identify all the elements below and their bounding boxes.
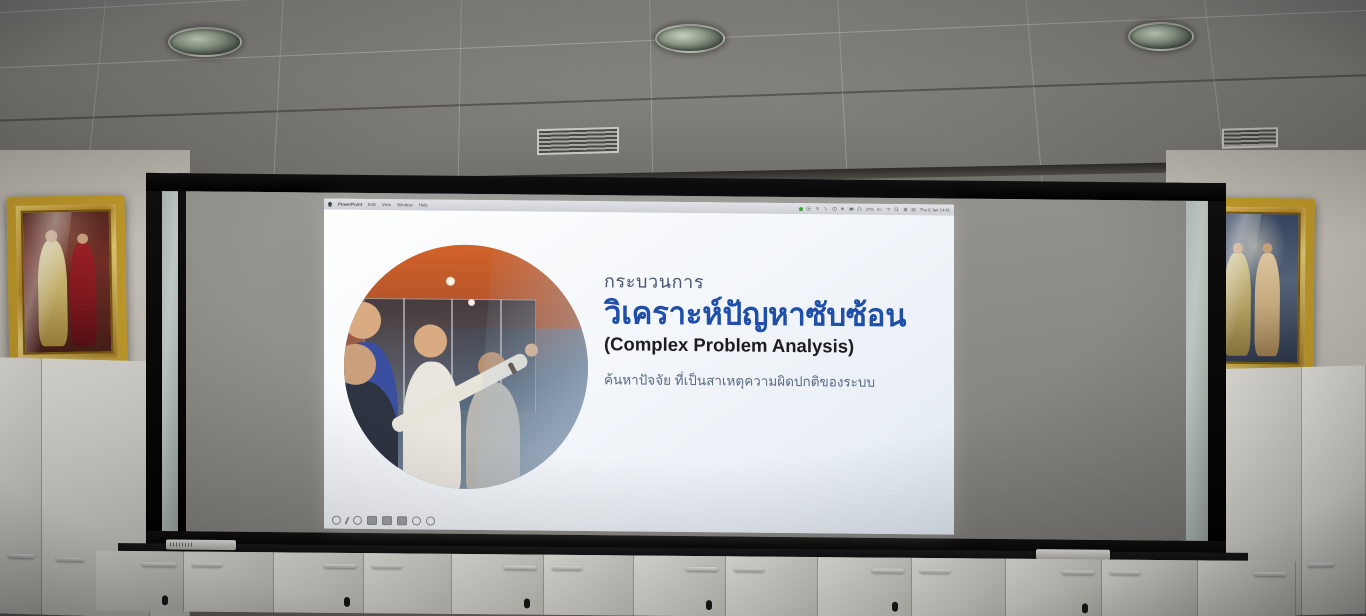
projection-screen-assembly: PowerPoint Edit View Window Help bbox=[146, 173, 1226, 563]
cabinet-door[interactable] bbox=[726, 556, 818, 616]
slide-navigator-icon[interactable] bbox=[367, 516, 377, 525]
cabinet-door[interactable] bbox=[274, 552, 364, 613]
zoom-icon[interactable] bbox=[382, 516, 392, 525]
powerpoint-slide: กระบวนการ วิเคราะห์ปัญหาซับซ้อน (Complex… bbox=[324, 210, 954, 535]
menu-item-window[interactable]: Window bbox=[397, 202, 413, 207]
cabinet-row-lower bbox=[96, 551, 1296, 616]
menubar-clock[interactable]: Thu 9 Jan 14:41 bbox=[920, 207, 950, 212]
slide-title-thai: วิเคราะห์ปัญหาซับซ้อน bbox=[604, 295, 938, 335]
presenter-toolbar bbox=[332, 516, 435, 526]
cabinet-door[interactable] bbox=[96, 551, 184, 612]
cabinet-door[interactable] bbox=[1006, 559, 1102, 616]
blackout-panel-left-outer bbox=[146, 173, 162, 549]
battery-percentage: 37% bbox=[866, 207, 874, 212]
dropbox-icon[interactable] bbox=[840, 206, 845, 211]
more-options-icon[interactable] bbox=[412, 516, 421, 525]
screen-recording-indicator-icon[interactable] bbox=[799, 207, 803, 211]
black-screen-icon[interactable] bbox=[397, 516, 407, 525]
cabinet-door[interactable] bbox=[544, 555, 634, 616]
picture-frame bbox=[7, 195, 128, 369]
royal-portrait-left bbox=[7, 195, 128, 369]
recessed-downlight-icon bbox=[655, 24, 725, 53]
slide-photo-circular bbox=[344, 244, 588, 490]
blackout-panel-right-outer bbox=[1208, 183, 1226, 559]
apple-logo-icon[interactable] bbox=[328, 202, 332, 207]
battery-icon[interactable] bbox=[877, 207, 882, 212]
menu-item-help[interactable]: Help bbox=[419, 202, 428, 207]
cabinet-door[interactable] bbox=[1302, 366, 1366, 616]
cabinet-door[interactable] bbox=[912, 558, 1006, 616]
cabinet-door[interactable] bbox=[1198, 560, 1296, 616]
control-center-toggle-icon[interactable] bbox=[911, 207, 916, 212]
end-show-icon[interactable] bbox=[426, 517, 435, 526]
recessed-downlight-icon bbox=[1128, 22, 1194, 51]
pointer-icon[interactable] bbox=[332, 516, 341, 525]
air-vent-icon bbox=[537, 127, 619, 155]
slide-eyebrow: กระบวนการ bbox=[604, 270, 938, 296]
menu-item-edit[interactable]: Edit bbox=[368, 202, 376, 207]
control-device[interactable] bbox=[166, 539, 236, 550]
meeting-room-scene: PowerPoint Edit View Window Help bbox=[0, 0, 1366, 616]
display-icon[interactable] bbox=[849, 207, 854, 212]
cabinet-door[interactable] bbox=[634, 555, 726, 616]
search-icon[interactable] bbox=[894, 207, 899, 212]
air-vent-icon bbox=[1222, 127, 1278, 149]
menu-app-name[interactable]: PowerPoint bbox=[338, 202, 362, 207]
cabinet-door[interactable] bbox=[818, 557, 912, 616]
wifi-icon[interactable] bbox=[886, 207, 891, 212]
cabinet-door[interactable] bbox=[184, 552, 274, 613]
siri-icon[interactable] bbox=[903, 207, 908, 212]
cabinet-door[interactable] bbox=[0, 357, 42, 614]
headphones-icon[interactable] bbox=[857, 207, 862, 212]
cabinet-door[interactable] bbox=[364, 553, 452, 614]
slide-subtitle: ค้นหาปัจจัย ที่เป็นสาเหตุความผิดปกติของร… bbox=[604, 371, 938, 393]
cabinet-door[interactable] bbox=[452, 554, 544, 615]
phone-icon[interactable] bbox=[823, 206, 828, 211]
clock-icon[interactable] bbox=[832, 206, 837, 211]
recessed-downlight-icon bbox=[168, 27, 242, 57]
laser-icon[interactable] bbox=[353, 516, 362, 525]
control-center-icon[interactable] bbox=[806, 206, 811, 211]
pen-icon[interactable] bbox=[344, 516, 349, 524]
cabinet-door[interactable] bbox=[1102, 560, 1198, 616]
menu-item-view[interactable]: View bbox=[382, 202, 391, 207]
projected-display: PowerPoint Edit View Window Help bbox=[324, 199, 954, 535]
curtain-left bbox=[162, 177, 178, 545]
slide-title-english: (Complex Problem Analysis) bbox=[604, 332, 938, 358]
slide-text-block: กระบวนการ วิเคราะห์ปัญหาซับซ้อน (Complex… bbox=[604, 270, 938, 393]
menubar-status-area: 37% bbox=[799, 206, 950, 212]
glass-sheen bbox=[472, 244, 588, 490]
bluetooth-icon[interactable] bbox=[815, 206, 820, 211]
